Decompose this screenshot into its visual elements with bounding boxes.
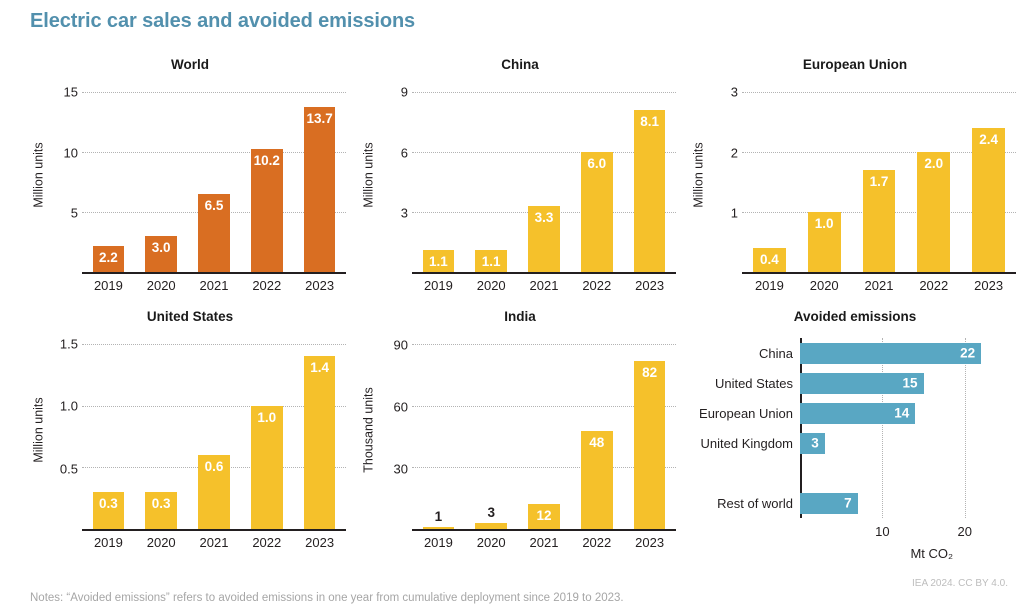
bar-value-label: 1.1 xyxy=(423,254,455,269)
chart-title-european-union: European Union xyxy=(690,56,1020,74)
y-axis-ticks-united-states: 0.51.01.5 xyxy=(52,328,82,531)
y-axis-title-european-union: Million units xyxy=(690,76,708,274)
bar-2023[interactable]: 2.4 xyxy=(972,128,1005,272)
bar-group-european-union: 0.41.01.72.02.4 xyxy=(742,76,1016,272)
bar-2020[interactable]: 0.3 xyxy=(145,492,177,529)
x-tick-label: 2023 xyxy=(623,278,676,293)
x-tick-label: 2020 xyxy=(797,278,852,293)
bar-slot: 1.1 xyxy=(465,76,518,272)
y-tick-label: 6 xyxy=(401,145,408,160)
bar-slot: 82 xyxy=(623,328,676,529)
bar-group-india: 13124882 xyxy=(412,328,676,529)
chart-united-states: Million units0.51.01.50.30.30.61.01.4201… xyxy=(30,328,350,553)
bar-slot: 2.0 xyxy=(906,76,961,272)
x-axis-labels-china: 20192020202120222023 xyxy=(412,274,676,296)
bar-slot: 2.4 xyxy=(961,76,1016,272)
bar-rest-of-world[interactable]: 7 xyxy=(800,493,858,514)
x-tick-label: 2019 xyxy=(82,278,135,293)
bar-slot: 13.7 xyxy=(293,76,346,272)
bar-slot: 0.3 xyxy=(82,328,135,529)
bar-value-label: 1.1 xyxy=(475,254,507,269)
bar-slot: 1 xyxy=(412,328,465,529)
bar-zone: 15 xyxy=(800,368,1020,398)
bar-group-world: 2.23.06.510.213.7 xyxy=(82,76,346,272)
chart-india: Thousand units30609013124882201920202021… xyxy=(360,328,680,553)
bar-value-label: 7 xyxy=(844,496,852,511)
bar-value-label: 6.0 xyxy=(581,156,613,171)
panel-india: India Thousand units30609013124882201920… xyxy=(360,308,680,553)
bar-2022[interactable]: 10.2 xyxy=(251,149,283,272)
bar-2020[interactable]: 1.0 xyxy=(808,212,841,272)
bar-group-united-states: 0.30.30.61.01.4 xyxy=(82,328,346,529)
y-axis-ticks-world: 51015 xyxy=(52,76,82,274)
bar-2019[interactable]: 1 xyxy=(423,527,455,529)
bar-european-union[interactable]: 14 xyxy=(800,403,915,424)
y-tick-label: 10 xyxy=(64,145,78,160)
bar-value-label: 3.3 xyxy=(528,210,560,225)
x-tick-label: 2019 xyxy=(742,278,797,293)
bar-slot: 1.1 xyxy=(412,76,465,272)
bar-slot: 1.4 xyxy=(293,328,346,529)
x-axis-labels-india: 20192020202120222023 xyxy=(412,531,676,553)
bar-value-label: 15 xyxy=(902,376,917,391)
bar-2021[interactable]: 0.6 xyxy=(198,455,230,529)
x-tick-label: 2020 xyxy=(135,535,188,550)
bar-value-label: 1.0 xyxy=(808,216,841,231)
bar-slot: 1.0 xyxy=(240,328,293,529)
x-tick-label: 2020 xyxy=(135,278,188,293)
x-tick-label: 2023 xyxy=(623,535,676,550)
bar-2021[interactable]: 12 xyxy=(528,504,560,529)
bar-zone: 22 xyxy=(800,338,1020,368)
x-tick-label: 20 xyxy=(957,524,971,539)
plot-area-united-states: 0.30.30.61.01.4 xyxy=(82,328,346,531)
x-tick-label: 2023 xyxy=(293,535,346,550)
category-label: Rest of world xyxy=(690,496,800,511)
bar-value-label: 0.3 xyxy=(93,496,125,511)
bar-zone: 3 xyxy=(800,428,1020,458)
x-tick-label: 2023 xyxy=(293,278,346,293)
x-tick-label: 2019 xyxy=(412,278,465,293)
bar-value-label: 14 xyxy=(894,406,909,421)
y-tick-label: 1 xyxy=(731,206,738,221)
bar-value-label: 3 xyxy=(811,436,819,451)
y-axis-ticks-european-union: 123 xyxy=(712,76,742,274)
bar-value-label: 0.4 xyxy=(753,252,786,267)
bar-zone xyxy=(800,458,1020,488)
bar-slot: 3.3 xyxy=(518,76,571,272)
bar-value-label: 0.3 xyxy=(145,496,177,511)
y-tick-label: 60 xyxy=(394,399,408,414)
panel-united-states: United States Million units0.51.01.50.30… xyxy=(30,308,350,553)
bar-slot: 2.2 xyxy=(82,76,135,272)
bar-2022[interactable]: 48 xyxy=(581,431,613,529)
plot-area-china: 1.11.13.36.08.1 xyxy=(412,76,676,274)
category-label: United States xyxy=(690,376,800,391)
plot-area-european-union: 0.41.01.72.02.4 xyxy=(742,76,1016,274)
y-axis-title-text: Million units xyxy=(362,142,376,207)
notes-text: Notes: “Avoided emissions” refers to avo… xyxy=(30,592,624,604)
x-tick-label: 2021 xyxy=(188,535,241,550)
bar-slot: 8.1 xyxy=(623,76,676,272)
y-axis-title-india: Thousand units xyxy=(360,328,378,531)
bar-zone: 7 xyxy=(800,488,1020,518)
bar-2021[interactable]: 6.5 xyxy=(198,194,230,272)
y-axis-ticks-china: 369 xyxy=(382,76,412,274)
bar-2019[interactable]: 1.1 xyxy=(423,250,455,272)
chart-title-china: China xyxy=(360,56,680,74)
y-axis-title-world: Million units xyxy=(30,76,48,274)
bar-group-china: 1.11.13.36.08.1 xyxy=(412,76,676,272)
bar-value-label: 6.5 xyxy=(198,198,230,213)
chart-china: Million units3691.11.13.36.08.1201920202… xyxy=(360,76,680,296)
x-axis-title: Mt CO₂ xyxy=(910,546,953,561)
bar-2022[interactable]: 6.0 xyxy=(581,152,613,272)
bar-value-label: 8.1 xyxy=(634,114,666,129)
bar-value-label: 82 xyxy=(634,365,666,380)
x-tick-label: 2019 xyxy=(82,535,135,550)
y-axis-ticks-india: 306090 xyxy=(382,328,412,531)
x-tick-label: 2021 xyxy=(518,278,571,293)
y-tick-label: 2 xyxy=(731,145,738,160)
y-tick-label: 15 xyxy=(64,84,78,99)
bar-slot: 1.7 xyxy=(852,76,907,272)
x-tick-label: 2020 xyxy=(465,535,518,550)
bar-slot: 12 xyxy=(518,328,571,529)
y-axis-title-text: Thousand units xyxy=(362,387,376,472)
y-tick-label: 30 xyxy=(394,461,408,476)
bar-2021[interactable]: 1.7 xyxy=(863,170,896,272)
bar-value-label: 3.0 xyxy=(145,240,177,255)
x-axis-labels-european-union: 20192020202120222023 xyxy=(742,274,1016,296)
bar-value-label: 1.4 xyxy=(304,360,336,375)
bar-value-label: 3 xyxy=(475,505,507,520)
y-axis-title-text: Million units xyxy=(692,142,706,207)
bar-slot: 0.4 xyxy=(742,76,797,272)
panel-world: World Million units510152.23.06.510.213.… xyxy=(30,56,350,296)
chart-avoided-emissions: 1020Mt CO₂China22United States15European… xyxy=(690,330,1020,553)
credit-text: IEA 2024. CC BY 4.0. xyxy=(912,578,1008,589)
bar-slot: 6.0 xyxy=(570,76,623,272)
bar-slot: 48 xyxy=(570,328,623,529)
y-axis-title-united-states: Million units xyxy=(30,328,48,531)
bar-zone: 14 xyxy=(800,398,1020,428)
bar-2019[interactable]: 0.3 xyxy=(93,492,125,529)
x-tick-label: 2022 xyxy=(570,278,623,293)
x-tick-label: 2023 xyxy=(961,278,1016,293)
bar-2021[interactable]: 3.3 xyxy=(528,206,560,272)
x-tick-label: 2021 xyxy=(852,278,907,293)
bar-united-states[interactable]: 15 xyxy=(800,373,924,394)
y-axis-title-text: Million units xyxy=(32,142,46,207)
y-tick-label: 90 xyxy=(394,337,408,352)
bar-value-label: 2.0 xyxy=(917,156,950,171)
bar-value-label: 1 xyxy=(423,509,455,524)
x-tick-label: 10 xyxy=(875,524,889,539)
bar-value-label: 13.7 xyxy=(304,111,336,126)
bar-2023[interactable]: 82 xyxy=(634,361,666,529)
chart-title-world: World xyxy=(30,56,350,74)
bar-2022[interactable]: 2.0 xyxy=(917,152,950,272)
bar-2023[interactable]: 1.4 xyxy=(304,356,336,529)
bar-2022[interactable]: 1.0 xyxy=(251,406,283,529)
bar-value-label: 12 xyxy=(528,508,560,523)
bar-china[interactable]: 22 xyxy=(800,343,981,364)
chart-title-india: India xyxy=(360,308,680,326)
bar-slot: 1.0 xyxy=(797,76,852,272)
bar-2020[interactable]: 3.0 xyxy=(145,236,177,272)
x-tick-label: 2022 xyxy=(906,278,961,293)
category-label: European Union xyxy=(690,406,800,421)
y-tick-label: 1.0 xyxy=(60,399,78,414)
category-label: China xyxy=(690,346,800,361)
chart-title-avoided-emissions: Avoided emissions xyxy=(690,308,1020,326)
chart-title-united-states: United States xyxy=(30,308,350,326)
bar-value-label: 0.6 xyxy=(198,459,230,474)
bar-2019[interactable]: 2.2 xyxy=(93,246,125,272)
bar-2019[interactable]: 0.4 xyxy=(753,248,786,272)
chart-european-union: Million units1230.41.01.72.02.4201920202… xyxy=(690,76,1020,296)
bar-value-label: 48 xyxy=(581,435,613,450)
bar-slot: 10.2 xyxy=(240,76,293,272)
x-tick-label: 2022 xyxy=(240,535,293,550)
plot-area-world: 2.23.06.510.213.7 xyxy=(82,76,346,274)
page-title: Electric car sales and avoided emissions xyxy=(30,10,415,33)
panel-avoided-emissions: Avoided emissions 1020Mt CO₂China22Unite… xyxy=(690,308,1020,553)
bar-2020[interactable]: 3 xyxy=(475,523,507,529)
bar-row-china[interactable]: China22 xyxy=(690,338,1020,368)
bar-slot: 3.0 xyxy=(135,76,188,272)
bar-row-rest-of-world[interactable]: Rest of world7 xyxy=(690,488,1020,518)
y-tick-label: 5 xyxy=(71,206,78,221)
bar-value-label: 1.7 xyxy=(863,174,896,189)
bar-value-label: 22 xyxy=(960,346,975,361)
bar-value-label: 2.4 xyxy=(972,132,1005,147)
y-tick-label: 3 xyxy=(401,206,408,221)
x-tick-label: 2019 xyxy=(412,535,465,550)
bar-row-united-kingdom[interactable]: United Kingdom3 xyxy=(690,428,1020,458)
bar-value-label: 2.2 xyxy=(93,250,125,265)
bar-value-label: 10.2 xyxy=(251,153,283,168)
x-tick-label: 2020 xyxy=(465,278,518,293)
bar-row-spacer xyxy=(690,458,1020,488)
y-tick-label: 1.5 xyxy=(60,337,78,352)
bar-slot: 0.3 xyxy=(135,328,188,529)
x-tick-label: 2022 xyxy=(570,535,623,550)
category-label: United Kingdom xyxy=(690,436,800,451)
chart-world: Million units510152.23.06.510.213.720192… xyxy=(30,76,350,296)
panel-european-union: European Union Million units1230.41.01.7… xyxy=(690,56,1020,296)
bar-2023[interactable]: 8.1 xyxy=(634,110,666,272)
y-tick-label: 3 xyxy=(731,85,738,100)
panel-china: China Million units3691.11.13.36.08.1201… xyxy=(360,56,680,296)
bar-row-united-states[interactable]: United States15 xyxy=(690,368,1020,398)
y-tick-label: 0.5 xyxy=(60,461,78,476)
x-axis-labels-united-states: 20192020202120222023 xyxy=(82,531,346,553)
bar-row-european-union[interactable]: European Union14 xyxy=(690,398,1020,428)
bar-slot: 3 xyxy=(465,328,518,529)
y-axis-title-china: Million units xyxy=(360,76,378,274)
bar-2023[interactable]: 13.7 xyxy=(304,107,336,272)
plot-area-india: 13124882 xyxy=(412,328,676,531)
x-tick-label: 2021 xyxy=(518,535,571,550)
bar-slot: 0.6 xyxy=(188,328,241,529)
y-tick-label: 9 xyxy=(401,85,408,100)
x-tick-label: 2021 xyxy=(188,278,241,293)
x-tick-label: 2022 xyxy=(240,278,293,293)
bar-2020[interactable]: 1.1 xyxy=(475,250,507,272)
x-axis-labels-world: 20192020202120222023 xyxy=(82,274,346,296)
bar-united-kingdom[interactable]: 3 xyxy=(800,433,825,454)
y-axis-title-text: Million units xyxy=(32,397,46,462)
bar-value-label: 1.0 xyxy=(251,410,283,425)
bar-slot: 6.5 xyxy=(188,76,241,272)
